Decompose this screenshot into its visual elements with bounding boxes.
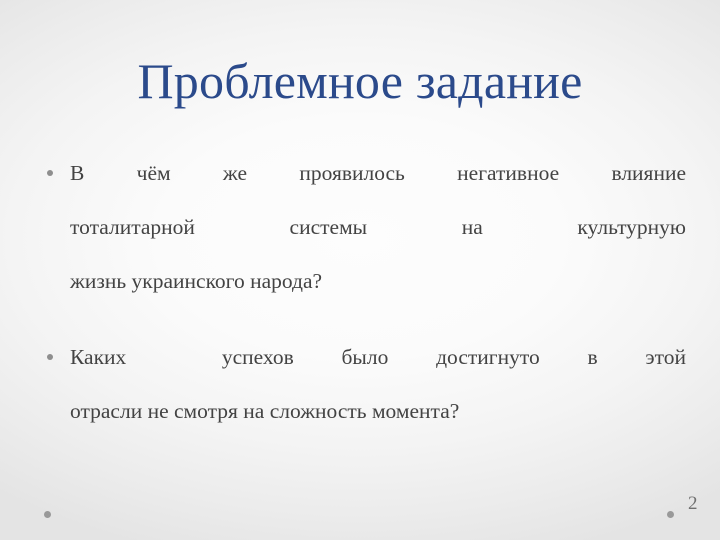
- bullet-point-icon: [47, 354, 53, 360]
- bullet-item-1: В чём же проявилось негативное влияние т…: [38, 146, 686, 308]
- bullet-2-line-2: отрасли не смотря на сложность момента?: [70, 384, 686, 438]
- bullet-1-line-2: тоталитарной системы на культурную: [70, 200, 686, 254]
- slide-body-content: В чём же проявилось негативное влияние т…: [38, 146, 686, 438]
- bullet-item-2: Каких успехов было достигнуто в этой отр…: [38, 330, 686, 438]
- footer-decorative-dot-left: [44, 511, 51, 518]
- page-number: 2: [688, 493, 714, 515]
- bullet-2-line-1: Каких успехов было достигнуто в этой: [70, 330, 686, 384]
- presentation-slide: Проблемное задание В чём же проявилось н…: [0, 0, 720, 540]
- page-title: Проблемное задание: [0, 52, 720, 110]
- footer-decorative-dot-right: [667, 511, 674, 518]
- bullet-1-line-3: жизнь украинского народа?: [70, 254, 686, 308]
- bullet-point-icon: [47, 170, 53, 176]
- bullet-1-line-1: В чём же проявилось негативное влияние: [70, 146, 686, 200]
